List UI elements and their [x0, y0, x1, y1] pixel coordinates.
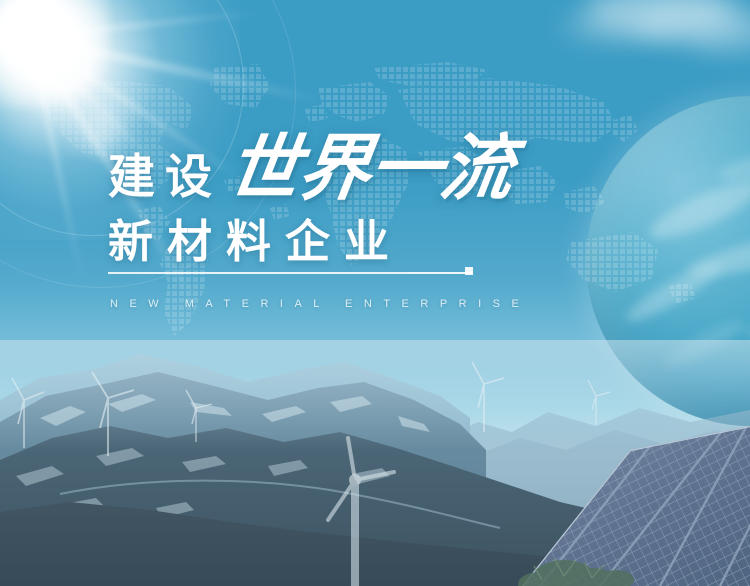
- hero-banner: 建设 世界一流 新材料企业 NEW MATERIAL ENTERPRISE: [0, 0, 750, 586]
- headline-line-1: 建设 世界一流: [108, 133, 668, 205]
- subtitle-text: NEW MATERIAL ENTERPRISE: [110, 298, 530, 310]
- headline-line-2: 新材料企业: [108, 219, 668, 264]
- headline-light-text: 建设: [108, 153, 222, 200]
- solar-panel-array: [480, 426, 750, 586]
- headline-emphasis-text: 世界一流: [223, 133, 517, 205]
- headline-block: 建设 世界一流 新材料企业: [108, 133, 668, 264]
- headline-divider: [108, 272, 472, 274]
- divider-end-marker: [465, 267, 473, 275]
